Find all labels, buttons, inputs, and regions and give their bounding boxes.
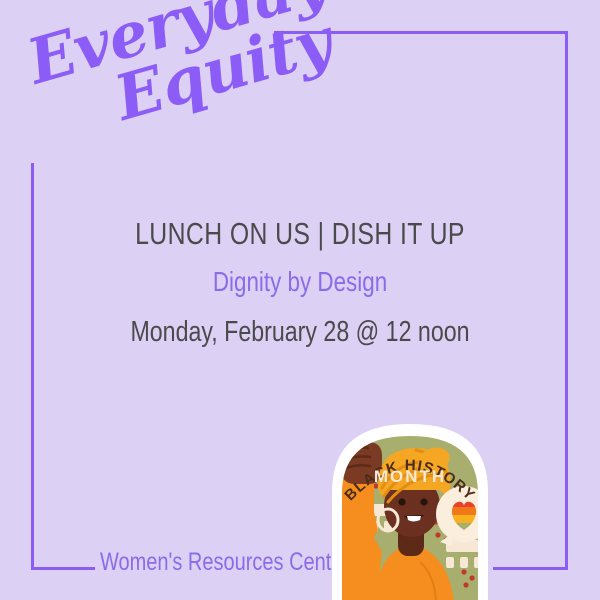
brand-script-line-1: Everyday [22, 0, 326, 91]
event-datetime: Monday, February 28 @ 12 noon [60, 316, 540, 349]
brand-script-line-2: Equity [109, 10, 342, 127]
event-text-block: LUNCH ON US | DISH IT UP Dignity by Desi… [0, 216, 600, 349]
frame-border-bottom-left [31, 567, 95, 570]
frame-border-top [274, 31, 568, 34]
brand-script-title: Everyday Equity [22, 0, 342, 148]
poster-canvas: Everyday Equity LUNCH ON US | DISH IT UP… [0, 0, 600, 600]
badge-line-2-text: MONTH [374, 467, 446, 486]
event-headline: LUNCH ON US | DISH IT UP [60, 216, 540, 252]
black-history-month-sticker: BLACK HISTORY MONTH [312, 402, 508, 600]
event-subhead: Dignity by Design [60, 266, 540, 298]
